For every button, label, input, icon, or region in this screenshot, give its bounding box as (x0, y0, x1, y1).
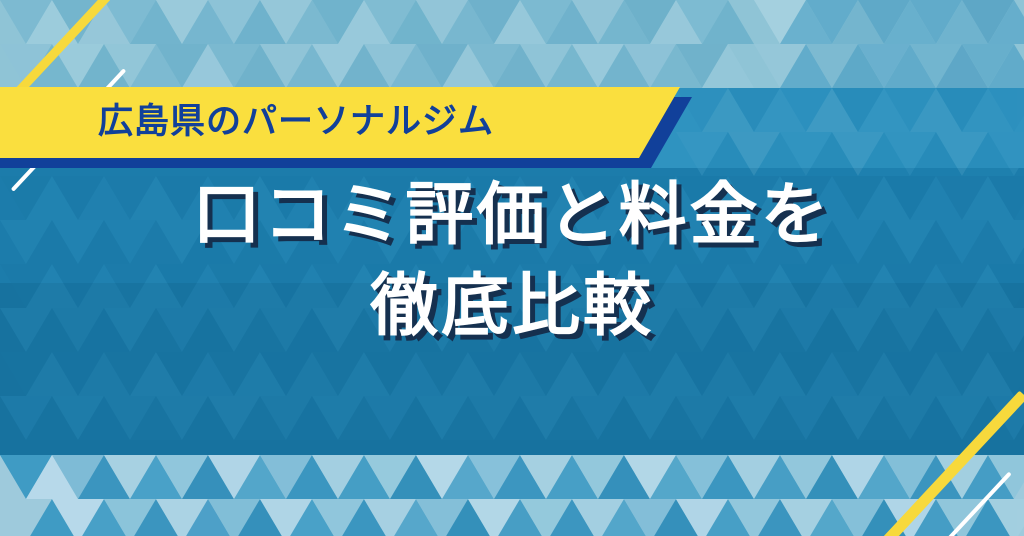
ribbon-label: 広島県のパーソナルジム (98, 105, 494, 140)
headline-line-2: 徹底比較 (0, 269, 1024, 346)
headline-line-1: 口コミ評価と料金を (0, 178, 1024, 255)
hero-banner: 広島県のパーソナルジム 口コミ評価と料金を 徹底比較 (0, 0, 1024, 536)
ribbon-shape: 広島県のパーソナルジム (0, 87, 680, 158)
ribbon-banner: 広島県のパーソナルジム (0, 87, 700, 171)
page-title: 口コミ評価と料金を 徹底比較 (0, 178, 1024, 346)
